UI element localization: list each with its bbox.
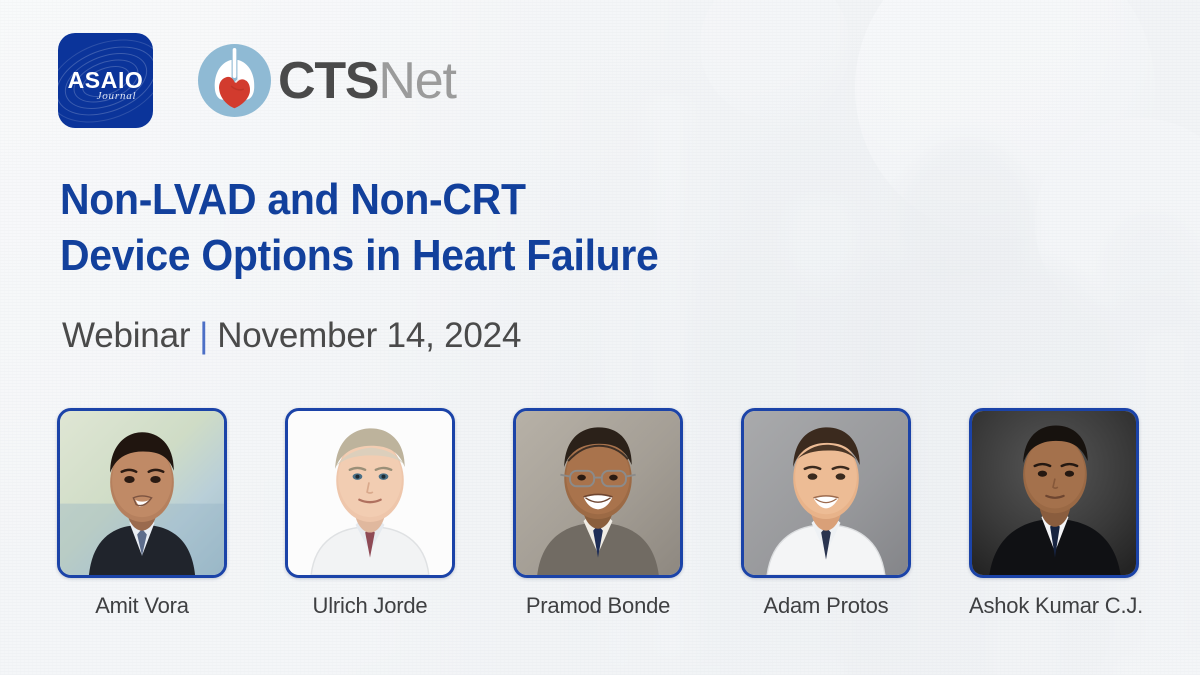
speaker-name: Amit Vora bbox=[57, 593, 227, 619]
asaio-journal-logo: ASAIO Journal bbox=[58, 33, 153, 128]
portrait-ashok-kumar-cj bbox=[969, 408, 1139, 578]
event-type-label: Webinar bbox=[62, 316, 190, 356]
subtitle-separator: | bbox=[199, 316, 208, 356]
portrait-adam-protos bbox=[741, 408, 911, 578]
speaker-card: Adam Protos bbox=[741, 408, 911, 619]
speaker-card: Ashok Kumar C.J. bbox=[969, 408, 1139, 619]
ctsnet-net-text: Net bbox=[378, 52, 455, 110]
speaker-card: Ulrich Jorde bbox=[285, 408, 455, 619]
speaker-card: Pramod Bonde bbox=[513, 408, 683, 619]
portrait-amit-vora bbox=[57, 408, 227, 578]
speaker-name: Pramod Bonde bbox=[513, 593, 683, 619]
event-subtitle: Webinar | November 14, 2024 bbox=[62, 316, 521, 356]
speaker-name: Adam Protos bbox=[741, 593, 911, 619]
page-title: Non-LVAD and Non-CRT Device Options in H… bbox=[60, 172, 658, 285]
asaio-journal-subtext: Journal bbox=[58, 90, 153, 102]
event-date-label: November 14, 2024 bbox=[217, 316, 521, 356]
portrait-pramod-bonde bbox=[513, 408, 683, 578]
logo-row: ASAIO Journal bbox=[58, 33, 456, 128]
ctsnet-cts-text: CTS bbox=[278, 52, 378, 110]
ctsnet-logo: CTSNet bbox=[198, 44, 456, 117]
title-line-1: Non-LVAD and Non-CRT bbox=[60, 172, 658, 228]
speaker-list: Amit Vora bbox=[57, 408, 1139, 619]
title-line-2: Device Options in Heart Failure bbox=[60, 228, 658, 284]
speaker-name: Ashok Kumar C.J. bbox=[969, 593, 1139, 619]
webinar-banner: ASAIO Journal bbox=[0, 0, 1200, 675]
portrait-ulrich-jorde bbox=[285, 408, 455, 578]
speaker-card: Amit Vora bbox=[57, 408, 227, 619]
heart-lungs-icon bbox=[198, 44, 271, 117]
speaker-name: Ulrich Jorde bbox=[285, 593, 455, 619]
ctsnet-wordmark: CTSNet bbox=[278, 55, 456, 107]
